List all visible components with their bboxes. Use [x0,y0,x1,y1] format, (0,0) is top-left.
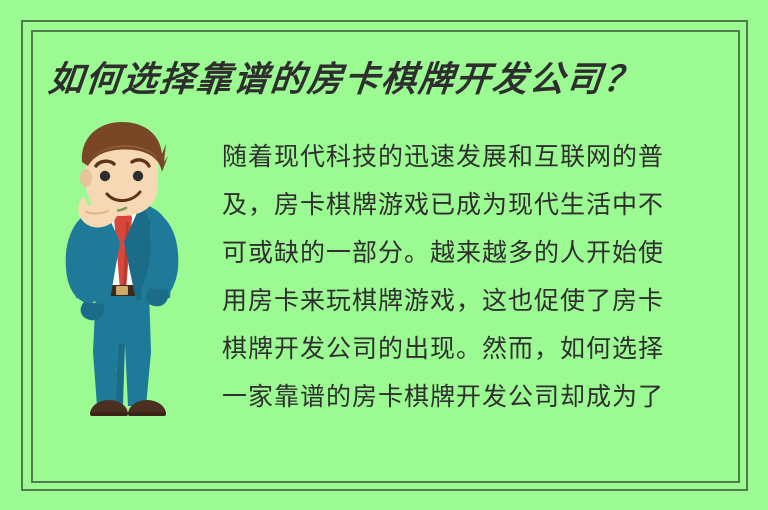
body-line: 及，房卡棋牌游戏已成为现代生活中不 [222,181,727,229]
body-line: 棋牌开发公司的出现。然而，如何选择 [222,325,727,373]
article-body: 随着现代科技的迅速发展和互联网的普 及，房卡棋牌游戏已成为现代生活中不 可或缺的… [222,133,727,421]
right-cuff [146,288,168,306]
left-ear [80,169,92,187]
body-line: 随着现代科技的迅速发展和互联网的普 [222,133,727,181]
page-title: 如何选择靠谱的房卡棋牌开发公司？ [45,56,711,112]
left-shoe-sole [90,412,128,416]
left-eye [100,171,110,181]
body-line: 可或缺的一部分。越来越多的人开始使 [222,229,727,277]
right-eye [133,171,143,181]
body-line: 一家靠谱的房卡棋牌开发公司却成为了 [222,373,727,421]
thinking-businessman-illustration [50,122,195,422]
belt-buckle [116,286,128,295]
poster-canvas: 如何选择靠谱的房卡棋牌开发公司？ 随着现代科技的迅速发展和互联网的普 及，房卡棋… [0,0,768,510]
right-shoe-sole [128,412,166,416]
body-line: 用房卡来玩棋牌游戏，这也促使了房卡 [222,277,727,325]
